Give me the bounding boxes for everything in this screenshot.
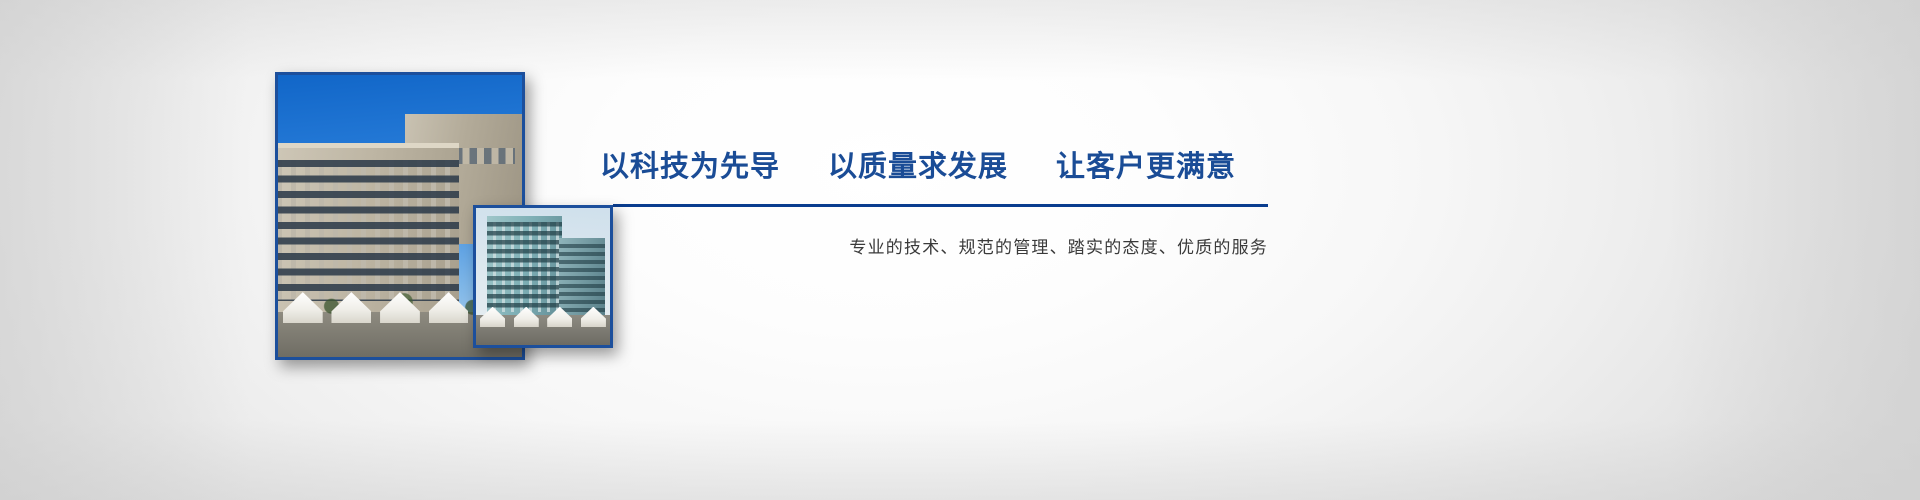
tent: [480, 307, 505, 328]
tent: [380, 292, 420, 323]
tent: [331, 292, 371, 323]
headline-phrase-2: 以质量求发展: [828, 143, 1008, 185]
headline-slogan: 以科技为先导 以质量求发展 让客户更满意: [600, 143, 1236, 185]
tent: [547, 307, 572, 328]
headline-phrase-1: 以科技为先导: [600, 143, 780, 185]
glass-tower-window-grid: [487, 222, 562, 312]
hero-banner: 以科技为先导 以质量求发展 让客户更满意 专业的技术、规范的管理、踏实的态度、优…: [0, 0, 1920, 500]
divider-rule: [613, 204, 1268, 207]
photo-secondary-image: [476, 208, 610, 345]
glass-tower-secondary-windows: [559, 244, 605, 315]
tent: [283, 292, 323, 323]
tent: [429, 292, 469, 323]
photo-glass-tower-exterior: [473, 205, 613, 348]
subtitle-text: 专业的技术、规范的管理、踏实的态度、优质的服务: [613, 233, 1268, 258]
tent-row: [480, 307, 606, 328]
headline-phrase-3: 让客户更满意: [1056, 143, 1236, 185]
tent: [514, 307, 539, 328]
tent: [581, 307, 606, 328]
